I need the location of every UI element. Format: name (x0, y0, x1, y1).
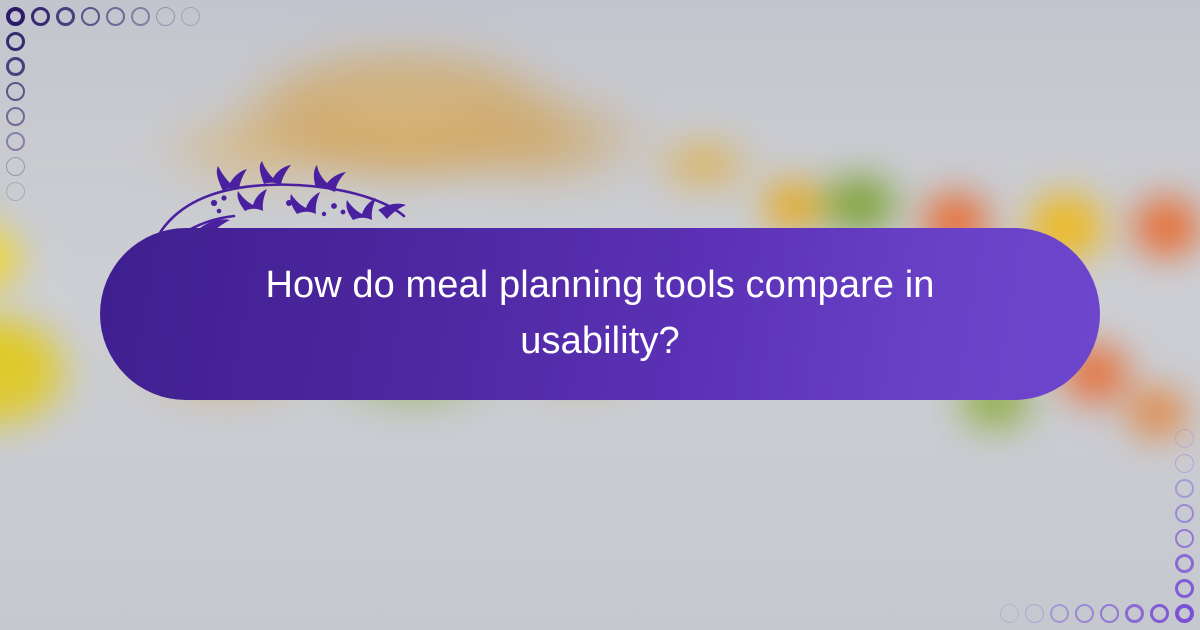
page-title: How do meal planning tools compare in us… (240, 258, 960, 370)
circle-top-row-3 (81, 7, 100, 26)
social-share-card: How do meal planning tools compare in us… (0, 0, 1200, 630)
circle-bottom-row-5 (1050, 604, 1069, 623)
circle-left-col-2 (6, 57, 25, 76)
headline-pill: How do meal planning tools compare in us… (100, 228, 1100, 400)
circle-top-row-7 (181, 7, 200, 26)
circle-left-col-7 (6, 182, 25, 201)
circle-left-col-4 (6, 107, 25, 126)
circle-bottom-row-3 (1100, 604, 1119, 623)
circle-right-col-1 (1175, 579, 1194, 598)
circle-right-col-6 (1175, 454, 1194, 473)
circle-top-row-4 (106, 7, 125, 26)
circle-right-col-3 (1175, 529, 1194, 548)
circle-bottom-row-7 (1000, 604, 1019, 623)
circle-left-col-1 (6, 32, 25, 51)
circle-left-col-5 (6, 132, 25, 151)
circle-right-col-4 (1175, 504, 1194, 523)
circle-top-row-0 (6, 7, 25, 26)
circle-left-col-3 (6, 82, 25, 101)
circle-right-col-7 (1175, 429, 1194, 448)
circle-bottom-row-6 (1025, 604, 1044, 623)
circle-top-row-6 (156, 7, 175, 26)
circle-bottom-row-0 (1175, 604, 1194, 623)
circle-right-col-5 (1175, 479, 1194, 498)
circle-top-row-5 (131, 7, 150, 26)
circle-bottom-row-1 (1150, 604, 1169, 623)
circle-top-row-1 (31, 7, 50, 26)
circle-bottom-row-4 (1075, 604, 1094, 623)
circle-bottom-row-2 (1125, 604, 1144, 623)
circle-top-row-2 (56, 7, 75, 26)
circle-left-col-6 (6, 157, 25, 176)
circle-right-col-2 (1175, 554, 1194, 573)
